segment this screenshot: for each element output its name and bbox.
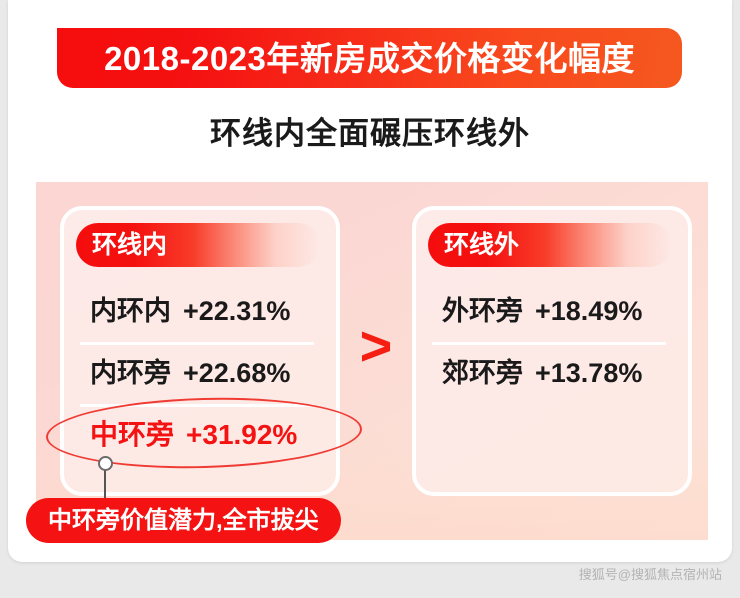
row-label: 内环旁 — [90, 360, 171, 387]
row-value: +31.92% — [186, 421, 297, 449]
infographic-canvas: 2018-2023年新房成交价格变化幅度 环线内全面碾压环线外 环线内 内环内 … — [0, 0, 740, 598]
row-label: 中环旁 — [90, 421, 174, 449]
callout-connector-line — [104, 470, 106, 500]
panel-inner-ring-rows: 内环内 +22.31% 内环旁 +22.68% 中环旁 +31.92% — [78, 280, 322, 466]
panel-inner-ring: 环线内 内环内 +22.31% 内环旁 +22.68% 中环旁 +31.92% — [60, 206, 340, 496]
row-label: 外环旁 — [442, 298, 523, 325]
panel-inner-ring-header: 环线内 — [76, 223, 320, 267]
table-row: 郊环旁 +13.78% — [430, 342, 674, 404]
row-value: +18.49% — [535, 298, 642, 325]
title-banner: 2018-2023年新房成交价格变化幅度 — [57, 28, 682, 88]
page-title: 2018-2023年新房成交价格变化幅度 — [104, 42, 635, 75]
callout-anchor-dot — [98, 456, 113, 471]
panel-inner-ring-title: 环线内 — [92, 233, 167, 258]
row-label: 内环内 — [90, 298, 171, 325]
panel-outer-ring-rows: 外环旁 +18.49% 郊环旁 +13.78% — [430, 280, 674, 404]
callout-badge-label: 中环旁价值潜力,全市拔尖 — [48, 509, 319, 533]
greater-than-icon: > — [352, 318, 400, 374]
panel-outer-ring-header: 环线外 — [428, 223, 672, 267]
watermark: 搜狐号@搜狐焦点宿州站 — [579, 568, 722, 581]
row-value: +22.68% — [183, 360, 290, 387]
row-label: 郊环旁 — [442, 360, 523, 387]
table-row-highlighted: 中环旁 +31.92% — [78, 404, 322, 466]
table-row: 内环内 +22.31% — [78, 280, 322, 342]
panel-outer-ring-title: 环线外 — [444, 233, 519, 258]
row-value: +22.31% — [183, 298, 290, 325]
row-value: +13.78% — [535, 360, 642, 387]
callout-badge: 中环旁价值潜力,全市拔尖 — [26, 498, 341, 543]
table-row: 外环旁 +18.49% — [430, 280, 674, 342]
table-row: 内环旁 +22.68% — [78, 342, 322, 404]
panel-outer-ring: 环线外 外环旁 +18.49% 郊环旁 +13.78% — [412, 206, 692, 496]
subtitle: 环线内全面碾压环线外 — [0, 118, 740, 149]
